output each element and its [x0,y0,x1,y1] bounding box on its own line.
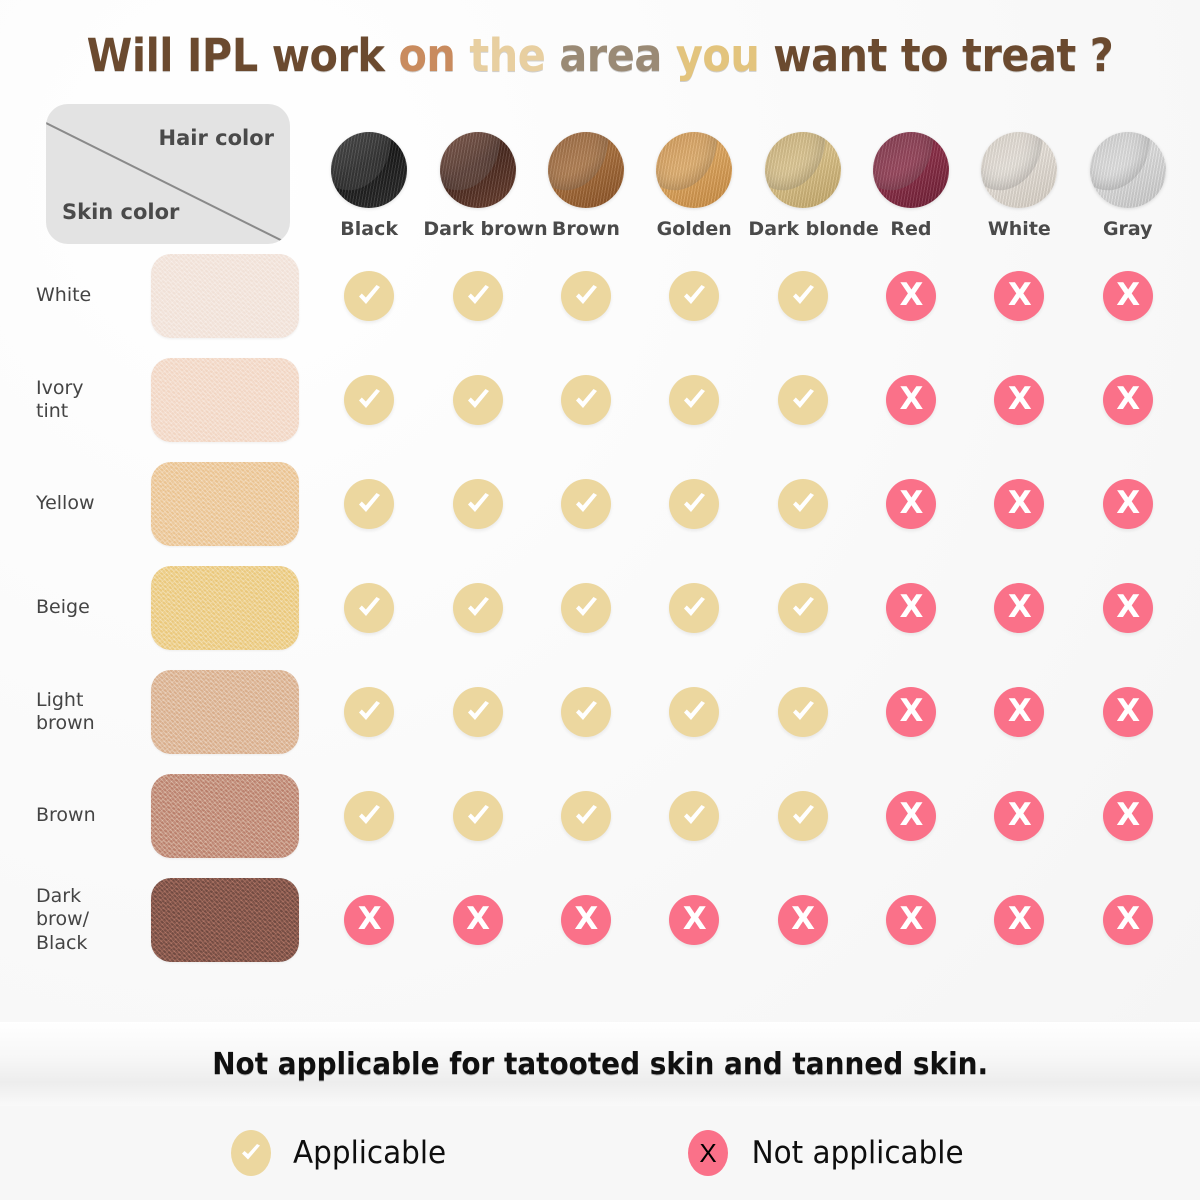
title-segment-2: the [469,29,559,82]
skin-row-label-yellow: Yellow [22,452,134,556]
x-glyph: X [1008,696,1031,727]
matrix-cell [748,452,856,556]
matrix-cell [315,556,423,660]
matrix-cell: X [965,868,1073,972]
x-icon: X [669,895,719,945]
hair-swatch-gray [1090,132,1166,208]
x-icon: X [886,791,936,841]
matrix-cell [640,764,748,868]
axis-legend-box: Hair color Skin color [46,104,290,244]
skin-swatch-brown [151,774,299,858]
check-icon [669,687,719,737]
title-segment-1: on [398,29,469,82]
hair-column-label: Dark brown [423,218,531,240]
hair-swatch-golden [656,132,732,208]
x-icon: X [886,479,936,529]
x-icon: X [1103,687,1153,737]
matrix-cell: X [1074,452,1183,556]
matrix-row: IvorytintXXX [22,348,1182,452]
skin-axis-label: Skin color [62,200,179,224]
skin-swatch-cell [134,244,315,348]
matrix-cell [640,660,748,764]
x-icon: X [453,895,503,945]
hair-column-header-gray: Gray [1074,104,1183,244]
x-glyph: X [574,904,597,935]
skin-swatch-cell [134,348,315,452]
hair-swatch-dark-blonde [765,132,841,208]
check-icon [344,791,394,841]
skin-row-label-dark-brow-black: Darkbrow/Black [22,868,134,972]
skin-texture [151,670,299,754]
title-segment-0: Will IPL work [87,29,399,82]
matrix-cell: X [965,452,1073,556]
hair-column-label: White [965,218,1073,240]
hair-column-label: Black [315,218,423,240]
check-icon [778,583,828,633]
x-glyph: X [1116,800,1139,831]
skin-row-label-brown: Brown [22,764,134,868]
skin-swatch-cell [134,660,315,764]
check-icon [453,583,503,633]
hair-swatch-white [981,132,1057,208]
x-icon: X [886,895,936,945]
check-icon [778,687,828,737]
check-icon [669,271,719,321]
x-glyph: X [900,280,923,311]
check-icon [344,375,394,425]
matrix-row: Darkbrow/BlackXXXXXXXX [22,868,1182,972]
matrix-cell: X [965,244,1073,348]
matrix-cell: X [1074,660,1183,764]
x-icon: X [994,895,1044,945]
x-glyph: X [1008,384,1031,415]
hair-column-label: Golden [640,218,748,240]
matrix-cell [532,452,640,556]
x-glyph: X [1116,904,1139,935]
matrix-cell [640,348,748,452]
hair-axis-label: Hair color [159,126,274,150]
matrix-cell: X [1074,556,1183,660]
matrix-cell: X [1074,348,1183,452]
matrix-cell: X [965,764,1073,868]
skin-row-label-beige: Beige [22,556,134,660]
x-icon: X [344,895,394,945]
x-icon: X [1103,791,1153,841]
check-icon [453,479,503,529]
check-icon [669,583,719,633]
matrix-cell [423,556,531,660]
matrix-row: YellowXXX [22,452,1182,556]
legend: Applicable X Not applicable [0,1106,1200,1200]
x-icon: X [994,271,1044,321]
x-glyph: X [900,904,923,935]
skin-texture [151,254,299,338]
x-glyph: X [900,592,923,623]
x-icon: X [1103,583,1153,633]
skin-texture [151,566,299,650]
legend-label-applicable: Applicable [293,1135,446,1171]
matrix-cell [315,452,423,556]
matrix-cell: X [857,452,965,556]
x-icon: X [994,583,1044,633]
matrix-body: WhiteXXXIvorytintXXXYellowXXXBeigeXXXLig… [22,244,1182,972]
matrix-cell [423,764,531,868]
x-icon: X [1103,375,1153,425]
x-icon: X [1103,271,1153,321]
check-icon [453,687,503,737]
legend-item-applicable: Applicable [231,1130,450,1176]
check-icon [344,687,394,737]
matrix-cell [748,348,856,452]
skin-row-label-light-brown: Lightbrown [22,660,134,764]
title-segment-3: area [559,29,675,82]
check-icon [344,479,394,529]
legend-item-not-applicable: X Not applicable [688,1130,969,1176]
skin-texture [151,462,299,546]
hair-column-label: Dark blonde [748,218,856,240]
x-icon: X [778,895,828,945]
axis-legend-cell: Hair color Skin color [22,104,315,244]
skin-swatch-cell [134,868,315,972]
matrix-cell: X [965,556,1073,660]
x-glyph: X [900,696,923,727]
title-segment-5: want to treat ? [773,29,1113,82]
matrix-cell [315,244,423,348]
skin-texture [151,358,299,442]
matrix-cell: X [1074,868,1183,972]
check-icon [453,791,503,841]
x-glyph: X [1116,488,1139,519]
check-icon [344,583,394,633]
matrix-row: LightbrownXXX [22,660,1182,764]
x-icon: X [994,479,1044,529]
x-glyph: X [900,800,923,831]
x-glyph: X [1116,384,1139,415]
matrix-cell [423,244,531,348]
page-title-area: Will IPL work on the area you want to tr… [0,0,1200,104]
check-icon [669,791,719,841]
matrix-cell [423,452,531,556]
matrix-cell [640,244,748,348]
skin-row-label-ivory-tint: Ivorytint [22,348,134,452]
warning-banner-text: Not applicable for tatooted skin and tan… [212,1047,988,1082]
matrix-cell: X [857,868,965,972]
skin-swatch-beige [151,566,299,650]
skin-swatch-light-brown [151,670,299,754]
check-icon [669,479,719,529]
hair-swatch-black [331,132,407,208]
x-glyph: X [1008,592,1031,623]
x-icon: X [886,687,936,737]
hair-column-header-dark-blonde: Dark blonde [748,104,856,244]
hair-column-header-dark-brown: Dark brown [423,104,531,244]
matrix-cell [532,556,640,660]
check-icon [778,479,828,529]
x-glyph: X [699,1138,716,1169]
skin-swatch-white [151,254,299,338]
skin-texture [151,878,299,962]
matrix-cell: X [423,868,531,972]
check-icon [344,271,394,321]
x-glyph: X [1008,800,1031,831]
x-icon: X [688,1130,728,1176]
matrix-cell [640,556,748,660]
x-glyph: X [1008,280,1031,311]
matrix-cell: X [965,660,1073,764]
warning-banner: Not applicable for tatooted skin and tan… [0,1022,1200,1106]
matrix-cell: X [857,764,965,868]
skin-swatch-cell [134,452,315,556]
matrix-cell: X [857,660,965,764]
matrix-row: WhiteXXX [22,244,1182,348]
matrix-cell [748,660,856,764]
hair-swatch-red [873,132,949,208]
x-glyph: X [791,904,814,935]
matrix-cell [640,452,748,556]
ipl-compatibility-chart: Will IPL work on the area you want to tr… [0,0,1200,1200]
matrix-cell [532,660,640,764]
skin-swatch-ivory-tint [151,358,299,442]
x-glyph: X [358,904,381,935]
check-icon [453,375,503,425]
skin-swatch-cell [134,556,315,660]
check-icon [778,791,828,841]
matrix-cell [423,348,531,452]
matrix-cell: X [640,868,748,972]
matrix-cell [532,764,640,868]
x-glyph: X [1116,280,1139,311]
hair-column-label: Gray [1074,218,1183,240]
check-icon [453,271,503,321]
check-icon [561,791,611,841]
skin-swatch-dark-brow-black [151,878,299,962]
skin-texture [151,774,299,858]
matrix-cell: X [315,868,423,972]
page-title: Will IPL work on the area you want to tr… [87,29,1114,82]
x-glyph: X [1008,488,1031,519]
x-glyph: X [1116,696,1139,727]
x-icon: X [886,271,936,321]
matrix-cell [532,348,640,452]
x-icon: X [561,895,611,945]
matrix-cell [315,764,423,868]
hair-swatch-dark-brown [440,132,516,208]
matrix-cell: X [1074,244,1183,348]
hair-column-header-golden: Golden [640,104,748,244]
x-glyph: X [683,904,706,935]
matrix-header: Hair color Skin color BlackDark brownBro… [22,104,1182,244]
matrix-cell: X [965,348,1073,452]
check-icon [231,1130,271,1176]
matrix-cell [423,660,531,764]
check-icon [669,375,719,425]
x-icon: X [1103,479,1153,529]
x-glyph: X [1116,592,1139,623]
skin-swatch-cell [134,764,315,868]
matrix-cell: X [857,244,965,348]
matrix-cell: X [1074,764,1183,868]
title-segment-4: you [676,29,773,82]
matrix-cell [748,556,856,660]
x-glyph: X [1008,904,1031,935]
matrix-row: BeigeXXX [22,556,1182,660]
hair-column-header-white: White [965,104,1073,244]
skin-swatch-yellow [151,462,299,546]
check-icon [561,271,611,321]
hair-column-label: Brown [532,218,640,240]
matrix-cell: X [532,868,640,972]
check-icon [561,479,611,529]
matrix-cell [748,244,856,348]
compatibility-matrix: Hair color Skin color BlackDark brownBro… [0,104,1200,972]
x-icon: X [994,687,1044,737]
x-glyph: X [900,384,923,415]
legend-label-not-applicable: Not applicable [752,1135,964,1171]
check-icon [561,375,611,425]
matrix-cell: X [748,868,856,972]
matrix-table: Hair color Skin color BlackDark brownBro… [22,104,1182,972]
check-icon [778,375,828,425]
matrix-cell: X [857,348,965,452]
matrix-cell [315,348,423,452]
x-icon: X [886,375,936,425]
matrix-row: BrownXXX [22,764,1182,868]
check-icon [561,687,611,737]
hair-column-header-black: Black [315,104,423,244]
matrix-cell [315,660,423,764]
matrix-cell: X [857,556,965,660]
check-icon [561,583,611,633]
x-icon: X [994,791,1044,841]
matrix-cell [532,244,640,348]
check-icon [778,271,828,321]
x-glyph: X [466,904,489,935]
x-icon: X [994,375,1044,425]
hair-swatch-brown [548,132,624,208]
matrix-cell [748,764,856,868]
x-icon: X [1103,895,1153,945]
x-icon: X [886,583,936,633]
x-glyph: X [900,488,923,519]
skin-row-label-white: White [22,244,134,348]
hair-column-header-brown: Brown [532,104,640,244]
